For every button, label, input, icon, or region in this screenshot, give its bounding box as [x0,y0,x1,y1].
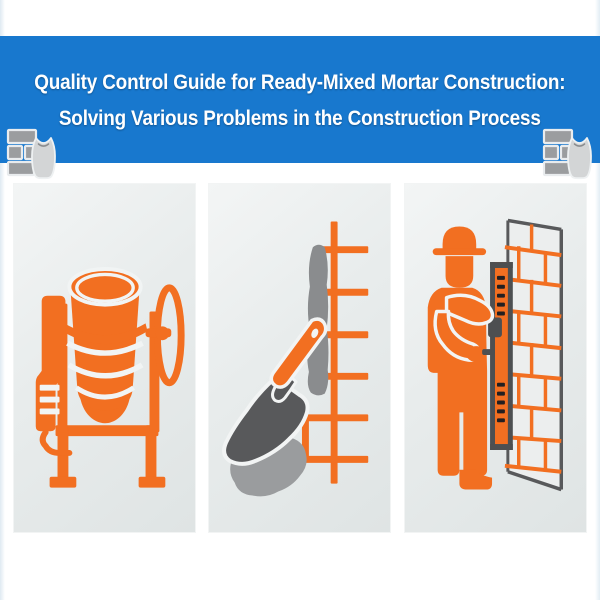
panel-worker-level [404,183,587,533]
hard-hat-brim [433,248,486,255]
spirit-level [488,262,513,450]
panel-concrete-mixer [13,183,196,533]
level-grip-connector [482,349,494,355]
trowel-mortar-brickwall-illustration [209,184,390,532]
brick-wall [505,221,561,490]
title-line-2: Solving Various Problems in the Construc… [34,100,565,136]
worker-spirit-level-brickwall-illustration [405,184,586,532]
hard-hat [443,226,477,250]
cement-bag-and-blocks-icon [542,124,594,182]
worker-boot [459,470,492,490]
title-line-1: Quality Control Guide for Ready-Mixed Mo… [34,64,565,100]
worker-head [446,256,474,288]
page-title: Quality Control Guide for Ready-Mixed Mo… [0,64,600,136]
worker-figure [428,226,494,489]
concrete-mixer-illustration [14,184,195,532]
title-banner: Quality Control Guide for Ready-Mixed Mo… [0,36,600,163]
poster-canvas: Quality Control Guide for Ready-Mixed Mo… [0,0,600,600]
panel-trowel-mortar [208,183,391,533]
